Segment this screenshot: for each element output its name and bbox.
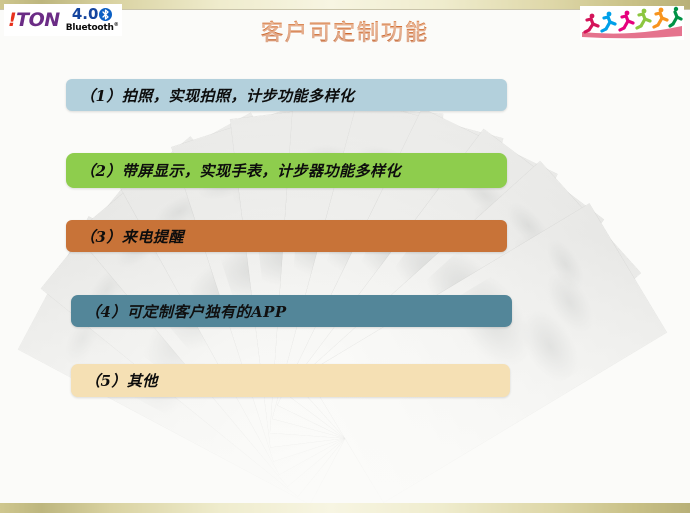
feature-item-3[interactable]: （3）来电提醒: [66, 220, 507, 252]
feature-item-3-label: （3）来电提醒: [80, 226, 184, 247]
feature-list: （1）拍照，实现拍照，计步功能多样化 （2）带屏显示，实现手表，计步器功能多样化…: [0, 0, 690, 513]
feature-item-4[interactable]: （4）可定制客户独有的APP: [71, 295, 512, 327]
feature-item-4-label: （4）可定制客户独有的APP: [85, 301, 287, 322]
slide-canvas: !TON 4.0 Bluetooth® 客户可定制功能: [0, 0, 690, 513]
feature-item-1[interactable]: （1）拍照，实现拍照，计步功能多样化: [66, 79, 507, 111]
feature-item-5-label: （5）其他: [85, 370, 158, 391]
bottom-accent-strip: [0, 503, 690, 513]
feature-item-2-label: （2）带屏显示，实现手表，计步器功能多样化: [80, 160, 401, 181]
feature-item-5[interactable]: （5）其他: [71, 364, 510, 397]
feature-item-2[interactable]: （2）带屏显示，实现手表，计步器功能多样化: [66, 153, 507, 188]
feature-item-1-label: （1）拍照，实现拍照，计步功能多样化: [80, 85, 354, 106]
